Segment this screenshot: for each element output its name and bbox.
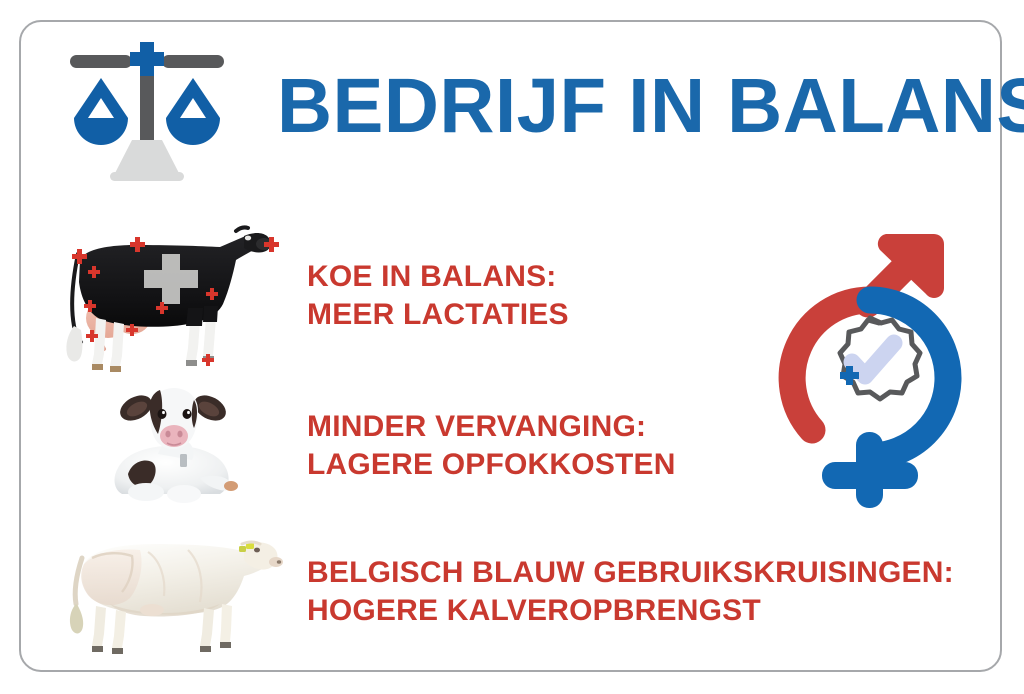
holstein-dairy-cow-photo bbox=[48, 218, 298, 383]
page-title: BEDRIJF IN BALANS bbox=[277, 62, 970, 152]
benefit-text-calf: MINDER VERVANGING: LAGERE OPFOKKOSTEN bbox=[307, 408, 676, 484]
benefit-line-2: LAGERE OPFOKKOSTEN bbox=[307, 446, 676, 484]
benefit-line-1: KOE IN BALANS: bbox=[307, 258, 569, 296]
benefit-line-2: HOGERE KALVEROPBRENGST bbox=[307, 592, 954, 630]
balance-scale-icon bbox=[58, 32, 236, 192]
benefit-row-bull: BELGISCH BLAUW GEBRUIKSKRUISINGEN: HOGER… bbox=[0, 522, 1024, 667]
belgian-blue-bull-photo bbox=[48, 530, 298, 660]
poster-header: BEDRIJF IN BALANS bbox=[0, 0, 1024, 205]
male-female-combined-symbol-icon bbox=[772, 226, 968, 514]
infographic-poster: BEDRIJF IN BALANS bbox=[0, 0, 1024, 694]
benefit-line-1: MINDER VERVANGING: bbox=[307, 408, 676, 446]
benefit-text-bull: BELGISCH BLAUW GEBRUIKSKRUISINGEN: HOGER… bbox=[307, 554, 954, 630]
holstein-calf-photo bbox=[88, 382, 268, 507]
benefit-line-2: MEER LACTATIES bbox=[307, 296, 569, 334]
benefit-line-1: BELGISCH BLAUW GEBRUIKSKRUISINGEN: bbox=[307, 554, 954, 592]
benefit-text-cow: KOE IN BALANS: MEER LACTATIES bbox=[307, 258, 569, 334]
